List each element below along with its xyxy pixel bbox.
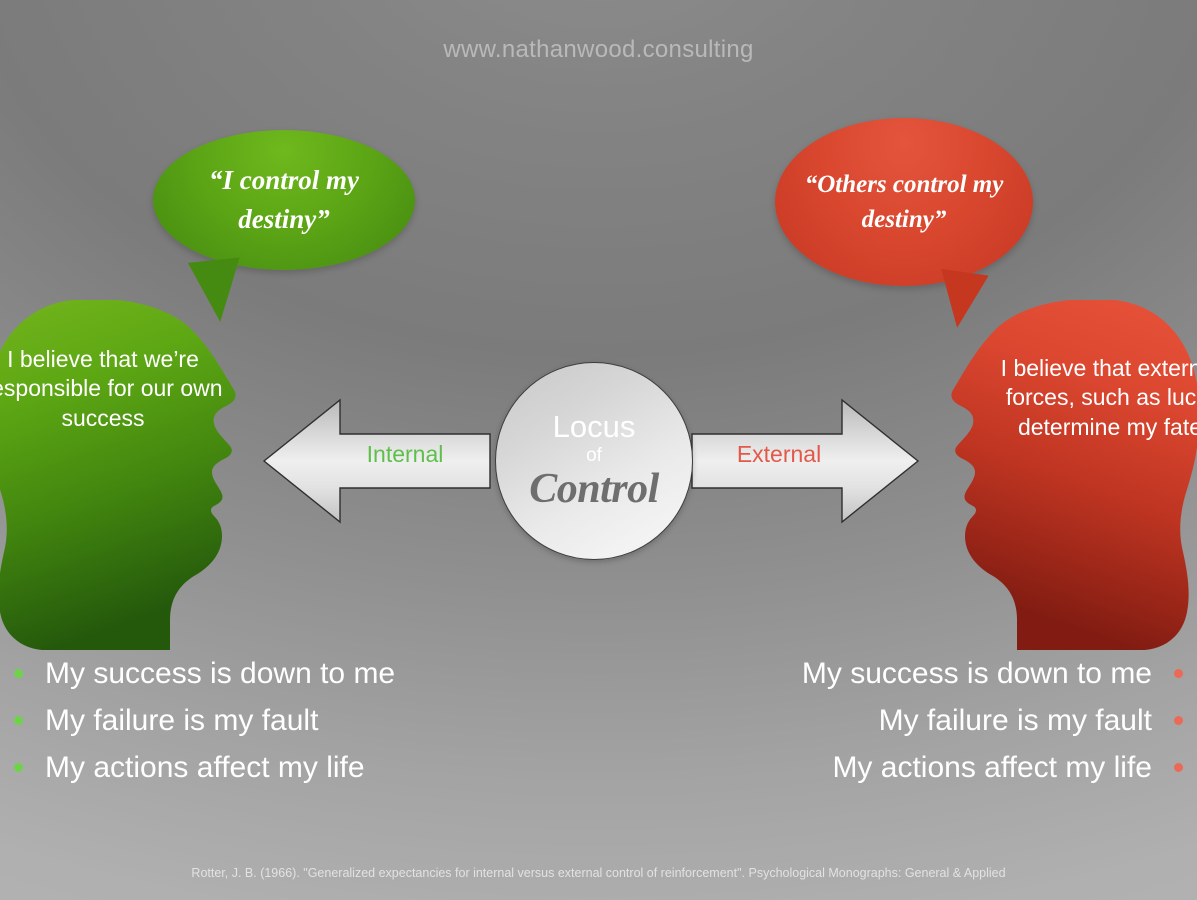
- bullet-dot-icon: [1174, 716, 1183, 725]
- head-silhouette-green-icon: [0, 300, 262, 650]
- watermark-url: www.nathanwood.consulting: [0, 36, 1197, 64]
- locus-label: Locus: [553, 411, 636, 442]
- list-item: My failure is my fault: [802, 697, 1183, 744]
- locus-of-control-circle: Locus of Control: [495, 362, 693, 560]
- arrow-right-icon: [690, 396, 920, 526]
- bullet-dot-icon: [14, 763, 23, 772]
- list-item: My success is down to me: [802, 650, 1183, 697]
- list-item: My actions affect my life: [14, 744, 395, 791]
- bullet-dot-icon: [1174, 763, 1183, 772]
- speech-bubble-tail-icon: [933, 269, 988, 331]
- source-citation: Rotter, J. B. (1966). "Generalized expec…: [0, 866, 1197, 880]
- list-item-label: My failure is my fault: [879, 704, 1152, 738]
- list-item: My success is down to me: [14, 650, 395, 697]
- internal-bullet-list: My success is down to me My failure is m…: [14, 650, 395, 791]
- external-head: I believe that external forces, such as …: [925, 300, 1197, 655]
- list-item-label: My actions affect my life: [45, 751, 365, 785]
- list-item-label: My actions affect my life: [832, 751, 1152, 785]
- internal-head: I believe that we’re responsible for our…: [0, 300, 262, 655]
- slide-canvas: www.nathanwood.consulting I believe that…: [0, 0, 1197, 900]
- speech-bubble-tail-icon: [188, 257, 246, 324]
- list-item: My actions affect my life: [802, 744, 1183, 791]
- external-speech-bubble: “Others control my destiny”: [775, 118, 1033, 286]
- bullet-dot-icon: [14, 669, 23, 678]
- of-label: of: [586, 446, 602, 465]
- bullet-dot-icon: [14, 716, 23, 725]
- control-label: Control: [529, 467, 659, 511]
- external-arrow: External: [690, 396, 920, 531]
- list-item-label: My success is down to me: [45, 657, 395, 691]
- external-bullet-list: My success is down to me My failure is m…: [802, 650, 1183, 791]
- internal-bubble-quote: “I control my destiny”: [153, 161, 415, 239]
- internal-speech-bubble: “I control my destiny”: [153, 130, 415, 270]
- bullet-dot-icon: [1174, 669, 1183, 678]
- head-silhouette-red-icon: [925, 300, 1197, 650]
- list-item-label: My failure is my fault: [45, 704, 318, 738]
- arrow-left-icon: [262, 396, 492, 526]
- internal-arrow: Internal: [262, 396, 492, 531]
- list-item-label: My success is down to me: [802, 657, 1152, 691]
- external-bubble-quote: “Others control my destiny”: [775, 167, 1033, 238]
- list-item: My failure is my fault: [14, 697, 395, 744]
